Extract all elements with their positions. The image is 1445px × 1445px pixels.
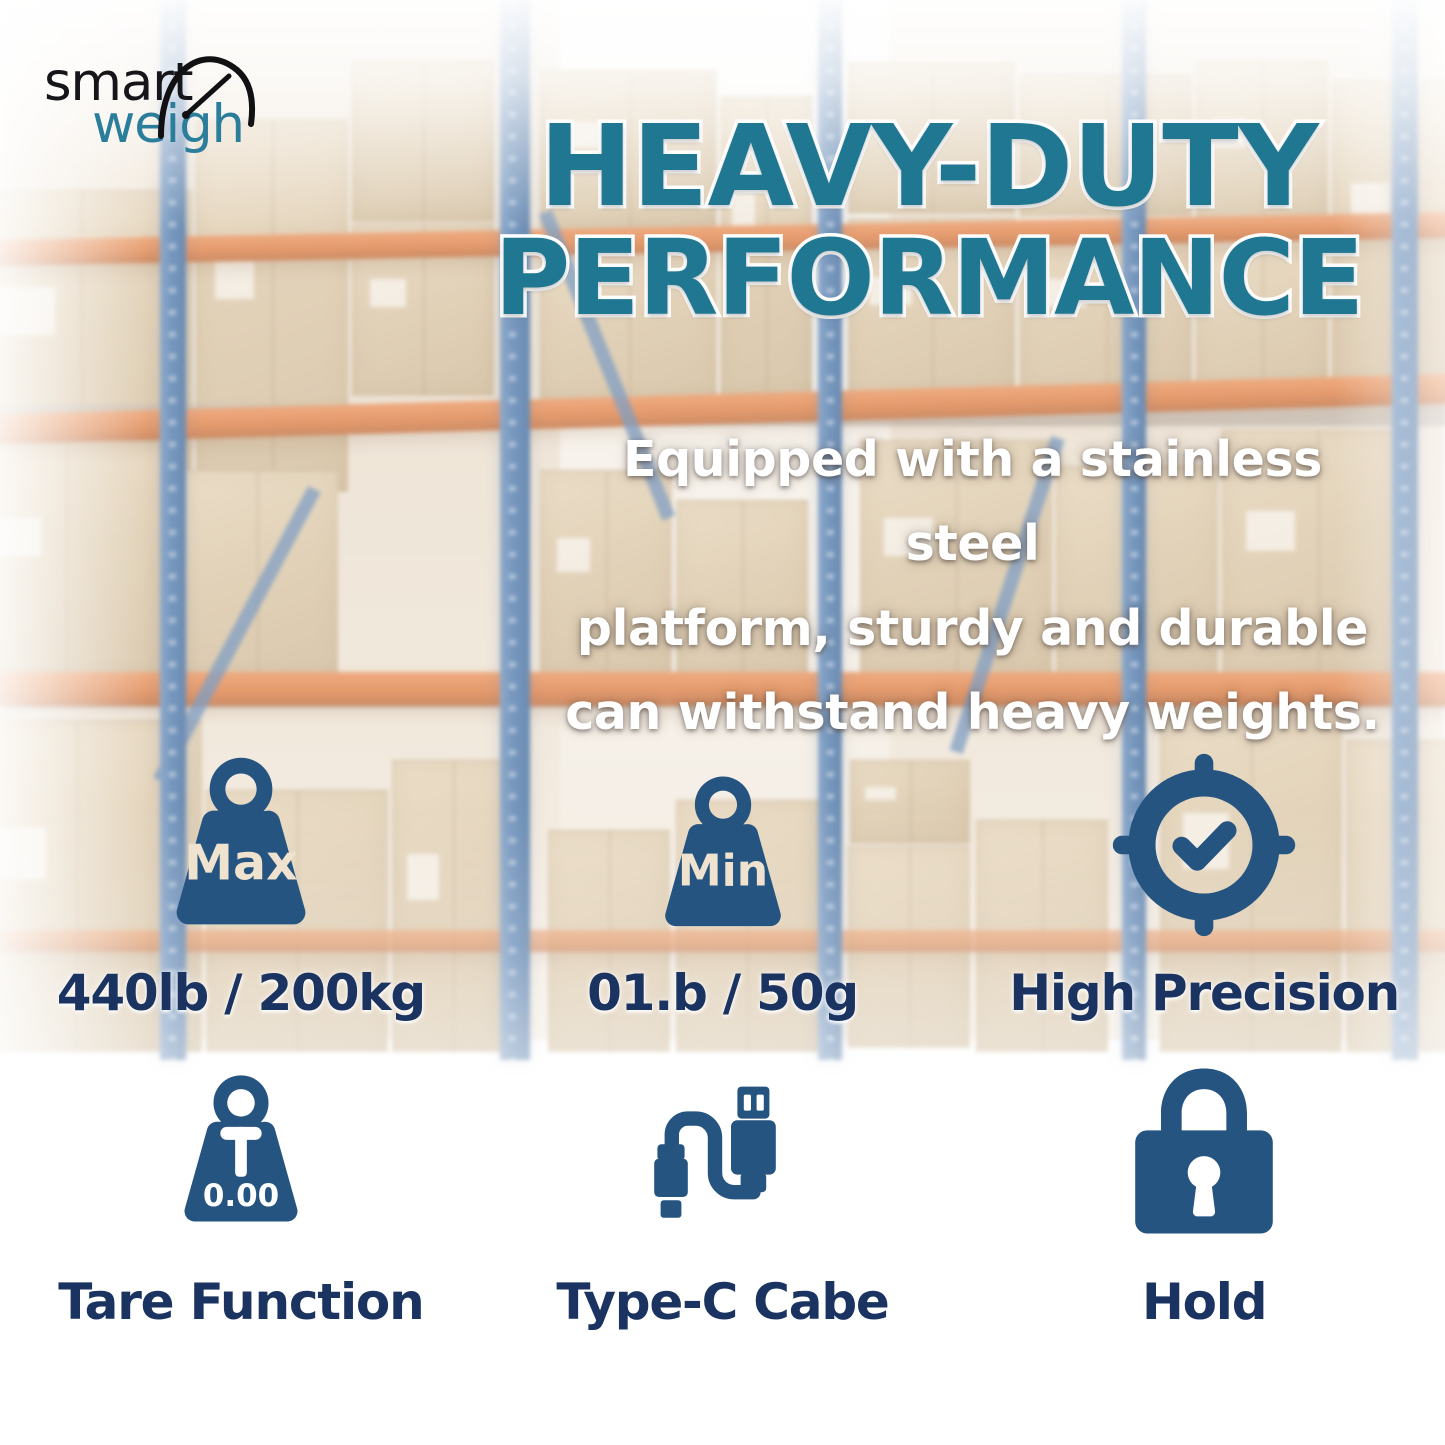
max-weight-icon: Max xyxy=(143,742,339,942)
min-icon-text: Min xyxy=(677,846,767,897)
feature-label-tare: Tare Function xyxy=(58,1273,423,1331)
feature-label-max: 440lb / 200kg xyxy=(57,964,425,1022)
brand-logo: smart weigh xyxy=(40,44,255,144)
feature-high-precision: High Precision xyxy=(963,742,1445,1022)
feature-label-precision: High Precision xyxy=(1009,964,1399,1022)
feature-label-hold: Hold xyxy=(1142,1273,1266,1331)
feature-hold: Hold xyxy=(963,1062,1445,1331)
feature-label-min: 01.b / 50g xyxy=(587,964,858,1022)
feature-tare: 0.00 Tare Function xyxy=(0,1062,482,1331)
feature-max-capacity: Max 440lb / 200kg xyxy=(0,742,482,1022)
subtitle-line-1: Equipped with a stainless steel xyxy=(560,418,1385,587)
subtitle: Equipped with a stainless steel platform… xyxy=(560,418,1385,755)
tare-weight-icon: 0.00 xyxy=(155,1062,327,1237)
tare-icon-text: 0.00 xyxy=(203,1178,279,1214)
functions-feature-row: 0.00 Tare Function xyxy=(0,1062,1445,1331)
feature-cable: Type-C Cabe xyxy=(482,1062,964,1331)
precision-target-check-icon xyxy=(1107,742,1301,942)
headline-line-1: HEAVY-DUTY xyxy=(470,110,1387,225)
feature-min-graduation: Min 01.b / 50g xyxy=(482,742,964,1022)
padlock-icon xyxy=(1124,1062,1284,1237)
min-weight-icon: Min xyxy=(635,742,811,942)
usb-cable-icon xyxy=(634,1062,812,1237)
page-title: HEAVY-DUTY PERFORMANCE xyxy=(470,110,1387,332)
product-feature-poster: smart weigh HEAVY-DUTY PERFORMANCE Equip… xyxy=(0,0,1445,1445)
headline-line-2: PERFORMANCE xyxy=(470,225,1387,332)
feature-label-cable: Type-C Cabe xyxy=(556,1273,888,1331)
specs-feature-row: Max 440lb / 200kg Min 01.b / 50g xyxy=(0,742,1445,1022)
gauge-arc-needle-icon xyxy=(151,40,259,144)
subtitle-line-2: platform, sturdy and durable xyxy=(560,587,1385,671)
max-icon-text: Max xyxy=(184,834,297,891)
